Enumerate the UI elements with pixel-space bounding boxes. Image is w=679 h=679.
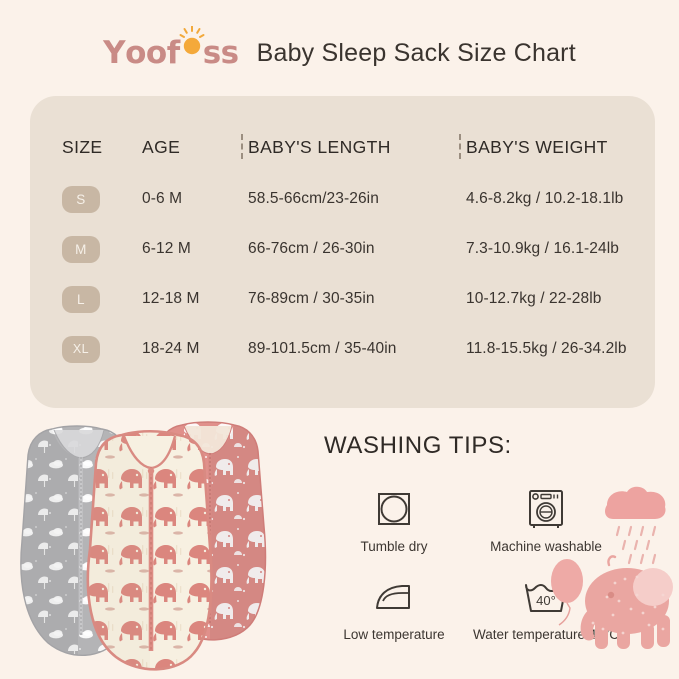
size-chart-card: SIZE AGE BABY'S LENGTH BABY'S WEIGHT S 0… [30, 96, 655, 408]
cell-weight: 4.6-8.2kg / 10.2-18.1lb [458, 190, 655, 208]
brand-logo-part1: Y [103, 38, 125, 69]
page-title: Baby Sleep Sack Size Chart [257, 39, 576, 68]
cream-elephant-sleep-sack [82, 425, 218, 673]
column-header-weight: BABY'S WEIGHT [458, 137, 655, 158]
washing-tip-label: Low temperature [343, 627, 444, 642]
brand-logo-part2: oof [125, 38, 180, 69]
cell-age: 12-18 M [142, 290, 240, 308]
cream-sleep-sack-svg [82, 425, 218, 673]
iron-low-temperature-icon [371, 574, 417, 620]
size-badge-cell: M [30, 236, 142, 263]
cell-age: 0-6 M [142, 190, 240, 208]
table-row: XL 18-24 M 89-101.5cm / 35-40in 11.8-15.… [30, 324, 655, 374]
table-header-row: SIZE AGE BABY'S LENGTH BABY'S WEIGHT [30, 120, 655, 174]
table-row: M 6-12 M 66-76cm / 26-30in 7.3-10.9kg / … [30, 224, 655, 274]
washing-tip-label: Tumble dry [360, 539, 427, 554]
cell-length: 89-101.5cm / 35-40in [240, 340, 458, 358]
washing-tip-label: Machine washable [490, 539, 602, 554]
washing-tips-section: WASHING TIPS: Tumble dry [318, 432, 668, 662]
page-header: Yoofo ss Baby Sleep Sack Size Chart [0, 38, 679, 69]
cell-length: 58.5-66cm/23-26in [240, 190, 458, 208]
column-header-size: SIZE [30, 137, 142, 158]
washing-tips-title: WASHING TIPS: [324, 432, 668, 460]
cell-age: 6-12 M [142, 240, 240, 258]
column-divider-1 [241, 134, 243, 159]
cell-length: 66-76cm / 26-30in [240, 240, 458, 258]
cell-length: 76-89cm / 30-35in [240, 290, 458, 308]
size-badge-cell: XL [30, 336, 142, 363]
size-table: SIZE AGE BABY'S LENGTH BABY'S WEIGHT S 0… [30, 96, 655, 408]
status-badge: S [62, 186, 100, 213]
washing-tips-grid: Tumble dry [318, 486, 668, 662]
washing-tip-tumble-dry: Tumble dry [318, 486, 470, 574]
status-badge: XL [62, 336, 100, 363]
size-chart-page: Yoofo ss Baby Sleep Sack Size Chart SI [0, 0, 679, 679]
water-temperature-value: 40° [536, 593, 556, 608]
sun-icon-svg [179, 26, 205, 56]
product-images [14, 418, 314, 673]
column-divider-2 [459, 134, 461, 159]
sun-icon: o [180, 38, 203, 69]
washing-tip-label: Water temperature 40°C [473, 627, 619, 642]
washing-tip-water-temperature: 40° Water temperature 40°C [470, 574, 622, 662]
size-badge-cell: S [30, 186, 142, 213]
washing-tip-low-temperature: Low temperature [318, 574, 470, 662]
tumble-dry-icon [374, 486, 414, 532]
status-badge: M [62, 236, 100, 263]
column-header-length: BABY'S LENGTH [240, 137, 458, 158]
cell-age: 18-24 M [142, 340, 240, 358]
washing-tip-machine-washable: Machine washable [470, 486, 622, 574]
cell-weight: 11.8-15.5kg / 26-34.2lb [458, 340, 655, 358]
column-header-age: AGE [142, 137, 240, 158]
cell-weight: 7.3-10.9kg / 16.1-24lb [458, 240, 655, 258]
machine-washable-icon [525, 486, 567, 532]
brand-logo-part3: ss [203, 38, 239, 69]
cell-weight: 10-12.7kg / 22-28lb [458, 290, 655, 308]
water-temperature-icon: 40° [520, 574, 572, 620]
status-badge: L [62, 286, 100, 313]
brand-logo: Yoofo ss [103, 38, 238, 69]
size-badge-cell: L [30, 286, 142, 313]
table-row: L 12-18 M 76-89cm / 30-35in 10-12.7kg / … [30, 274, 655, 324]
table-row: S 0-6 M 58.5-66cm/23-26in 4.6-8.2kg / 10… [30, 174, 655, 224]
